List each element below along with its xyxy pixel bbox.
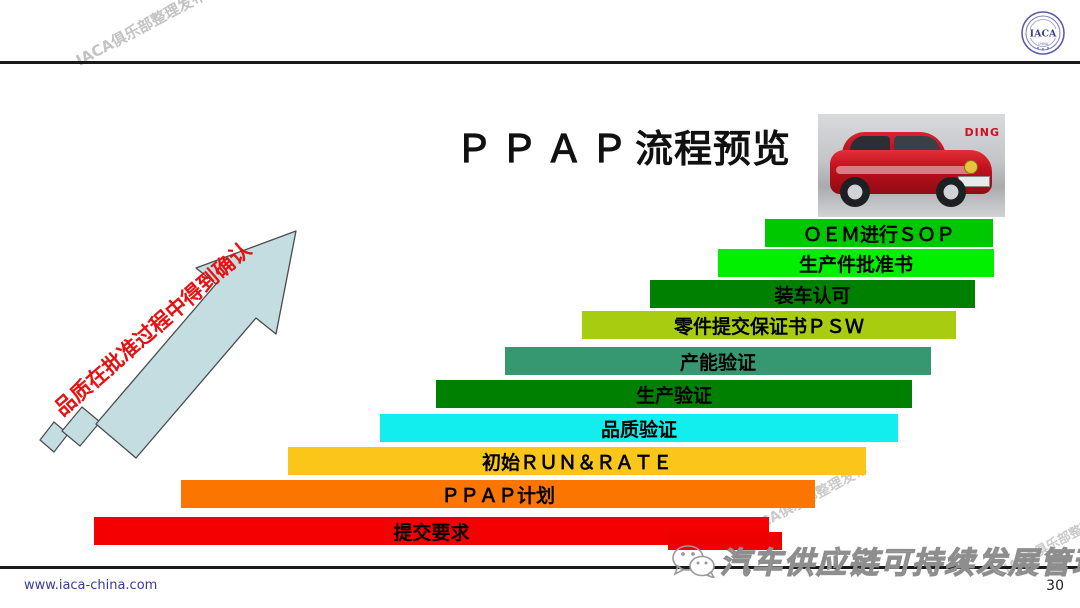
stage-bar-label: 提交要求 [393,518,469,545]
watermark-top-left: IACA俱乐部整理发布 [72,0,210,71]
page-title: ＰＰＡＰ流程预览 [455,118,791,173]
page-title-cjk: 流程预览 [635,127,791,171]
stage-bar-label: 初始ＲＵＮ＆ＲＡＴＥ [482,448,672,475]
page-title-latin: ＰＰＡＰ [455,127,635,171]
stage-bar-label: 产能验证 [680,348,756,375]
stage-bar-label: 生产件批准书 [799,250,913,277]
stage-bar: 初始ＲＵＮ＆ＲＡＴＥ [288,447,866,475]
stage-bar-label: 装车认可 [774,281,850,308]
progress-arrow [38,226,338,461]
stage-bar-label: ＯＥＭ进行ＳＯＰ [803,220,955,247]
stage-bar-label: ＰＰＡＰ计划 [441,481,555,508]
car-brand-text: DING [965,126,1000,139]
svg-text:CHINA: CHINA [1038,42,1049,46]
stage-bar: 生产验证 [436,380,912,408]
car-emblem [964,160,978,174]
wechat-promo-text: 汽车供应链可持续发展管理 [720,538,1080,582]
car-wheel-rear [840,177,870,207]
svg-text:IACA: IACA [1030,29,1057,40]
stage-bar-label: 品质验证 [601,415,677,442]
slide-canvas: IACA俱乐部整理发布 IACA俱乐部整理发布 IACA俱乐部整理发布 IACA… [0,0,1080,608]
stage-bar: 零件提交保证书ＰＳＷ [582,311,956,339]
stage-bar: ＰＰＡＰ计划 [181,480,815,508]
stage-bar: 装车认可 [650,280,975,308]
wechat-icon [672,544,716,578]
iaca-logo-icon: IACA CHINA [1020,10,1066,56]
header-divider [0,61,1080,64]
stage-bar: 产能验证 [505,347,931,375]
stage-bar: ＯＥＭ进行ＳＯＰ [765,219,993,247]
car-photo: DING [818,114,1005,217]
car-wheel-front [936,177,966,207]
footer-website-link[interactable]: www.iaca-china.com [24,578,157,593]
car-highlight [836,166,976,174]
stage-bar-label: 零件提交保证书ＰＳＷ [674,312,864,339]
stage-bar: 品质验证 [380,414,898,442]
stage-bar-label: 生产验证 [636,381,712,408]
stage-bar: 生产件批准书 [718,249,994,277]
wechat-promo: 汽车供应链可持续发展管理 [668,534,1080,578]
